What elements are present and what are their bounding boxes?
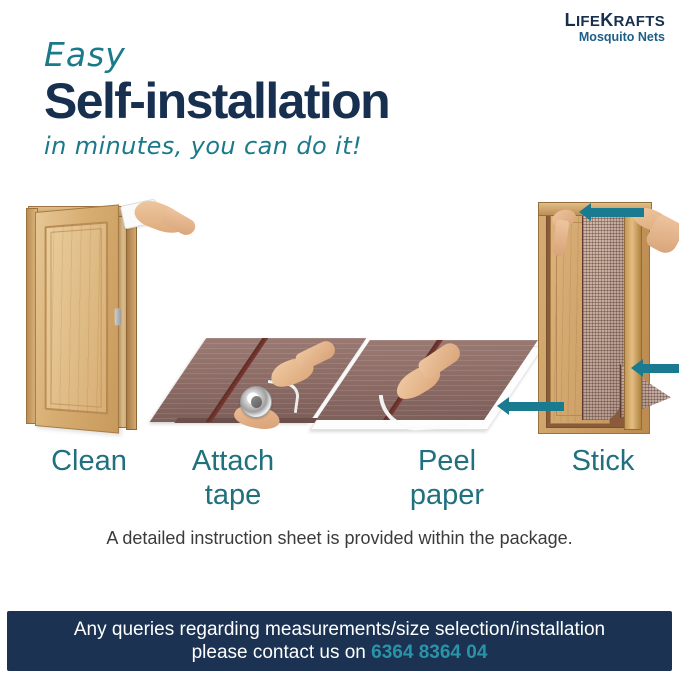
banner-contact-prefix: please contact us on: [192, 642, 372, 663]
door-handle-icon: [115, 308, 122, 325]
brand-tagline: Mosquito Nets: [565, 31, 665, 44]
headline-self-installation: Self-installation: [44, 76, 389, 126]
step-label-attach-tape: Attach tape: [158, 444, 308, 512]
step-label-line1: Attach: [158, 444, 308, 478]
instruction-note: A detailed instruction sheet is provided…: [0, 528, 679, 549]
contact-banner: Any queries regarding measurements/size …: [7, 611, 672, 671]
door-leaf: [35, 204, 119, 433]
infographic-page: LIFEKRAFTS Mosquito Nets Easy Self-insta…: [0, 0, 679, 679]
step-label-line2: paper: [372, 478, 522, 512]
brand-logo: LIFEKRAFTS Mosquito Nets: [565, 11, 665, 44]
wood-grain-texture: [45, 221, 108, 414]
brand-name-l: L: [565, 10, 576, 30]
step-label-peel-paper: Peel paper: [372, 444, 522, 512]
headline-subtitle: in minutes, you can do it!: [44, 134, 362, 158]
step-label-line2: tape: [158, 478, 308, 512]
brand-name: LIFEKRAFTS: [565, 11, 665, 29]
arrow-left-icon: [508, 402, 564, 411]
illustration-peel-paper: [338, 340, 533, 440]
tape-roll-icon: [240, 386, 272, 418]
step-label-line1: Peel: [372, 444, 522, 478]
banner-line-2: please contact us on 6364 8364 04: [192, 641, 488, 664]
step-label-clean: Clean: [14, 444, 164, 478]
headline-easy: Easy: [44, 38, 126, 71]
illustration-row: [0, 190, 679, 450]
door-jamb-secondary: [126, 212, 137, 430]
step-label-line1: Stick: [528, 444, 678, 478]
contact-phone-number[interactable]: 6364 8364 04: [371, 642, 487, 663]
illustration-stick-net: [524, 196, 679, 442]
forearm-icon: [160, 207, 198, 239]
brand-name-k: K: [600, 10, 613, 30]
step-label-line1: Clean: [14, 444, 164, 478]
step-label-stick: Stick: [528, 444, 678, 478]
brand-name-rafts: RAFTS: [614, 13, 666, 30]
banner-line-1: Any queries regarding measurements/size …: [74, 618, 605, 641]
arrow-left-icon: [642, 364, 679, 373]
illustration-clean-door: [22, 202, 182, 442]
door-frame-right: [624, 206, 642, 430]
step-labels: Clean Attach tape Peel paper Stick: [0, 440, 679, 510]
brand-name-ife: IFE: [576, 13, 600, 30]
arrow-left-icon: [590, 208, 644, 217]
